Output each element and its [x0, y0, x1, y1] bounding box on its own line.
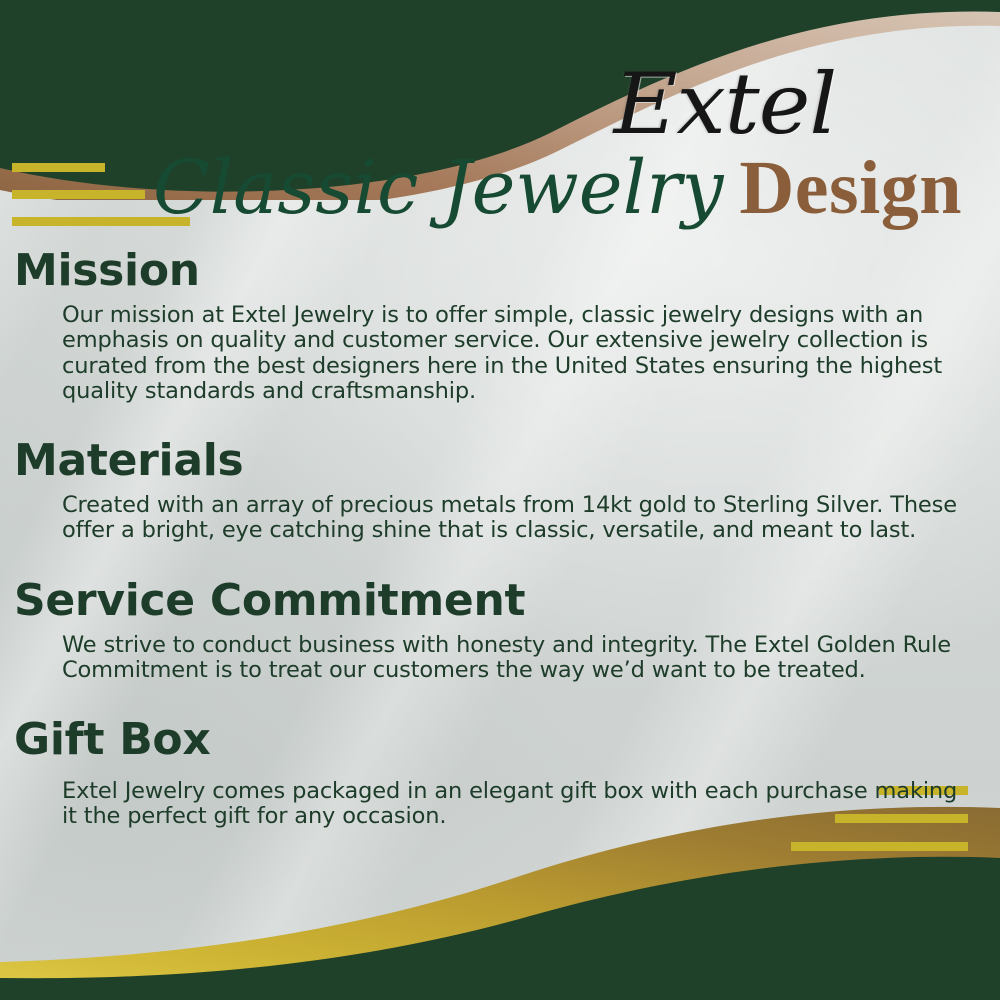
section-service-commitment: Service Commitment We strive to conduct …	[0, 576, 1000, 684]
title-primary: Classic Jewelry	[153, 151, 723, 225]
section-mission: Mission Our mission at Extel Jewelry is …	[0, 246, 1000, 404]
decor-line	[791, 842, 968, 851]
section-body-service-commitment: We strive to conduct business with hones…	[0, 633, 1000, 683]
section-gift-box: Gift Box Extel Jewelry comes packaged in…	[0, 715, 1000, 829]
page-title: Classic Jewelry Design	[0, 150, 962, 226]
section-heading-gift-box: Gift Box	[0, 715, 1000, 764]
title-secondary: Design	[739, 150, 962, 226]
section-materials: Materials Created with an array of preci…	[0, 436, 1000, 544]
section-heading-service-commitment: Service Commitment	[0, 576, 1000, 625]
content-sections: Mission Our mission at Extel Jewelry is …	[0, 246, 1000, 837]
section-body-gift-box: Extel Jewelry comes packaged in an elega…	[0, 779, 1000, 829]
brand-script-logo: Extel	[614, 62, 837, 146]
section-body-materials: Created with an array of precious metals…	[0, 493, 1000, 543]
section-body-mission: Our mission at Extel Jewelry is to offer…	[0, 303, 1000, 404]
section-heading-mission: Mission	[0, 246, 1000, 295]
section-heading-materials: Materials	[0, 436, 1000, 485]
